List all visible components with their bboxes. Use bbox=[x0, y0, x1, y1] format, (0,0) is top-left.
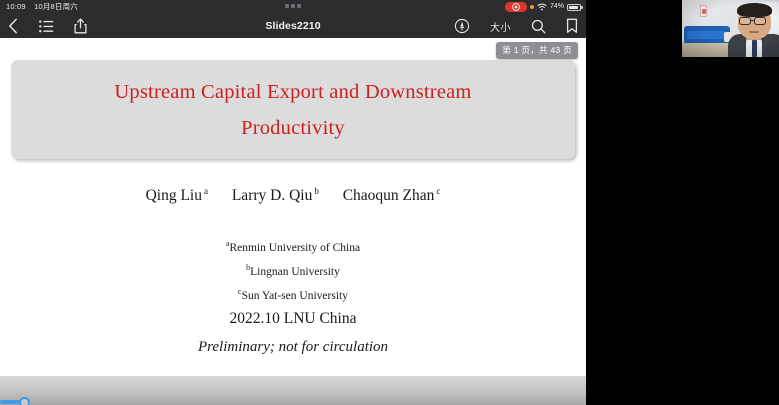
search-icon[interactable] bbox=[531, 19, 546, 34]
author-marker: c bbox=[436, 186, 440, 196]
screen-record-icon[interactable] bbox=[505, 2, 527, 12]
bookmark-icon[interactable] bbox=[566, 18, 578, 34]
document-toolbar: Slides2210 大小 bbox=[0, 14, 586, 38]
author-name: Larry D. Qiu bbox=[232, 187, 313, 204]
author-entry: Larry D. Qiub bbox=[232, 186, 319, 205]
multitask-dot bbox=[297, 4, 301, 8]
screen-root: 10:09 10月8日周六 bbox=[0, 0, 779, 405]
slide-canvas: Upstream Capital Export and Downstream P… bbox=[0, 38, 586, 376]
document-page[interactable]: 第 1 页，共 43 页 Upstream Capital Export and… bbox=[0, 38, 586, 376]
slide-venue: 2022.10 LNU China bbox=[0, 310, 586, 328]
multitask-dots[interactable] bbox=[285, 4, 301, 8]
author-marker: a bbox=[204, 186, 208, 196]
battery-percent: 74% bbox=[550, 0, 564, 14]
affiliation-name: Renmin University of China bbox=[229, 242, 360, 254]
microphone-in-use-dot bbox=[530, 5, 534, 9]
page-scrubber[interactable] bbox=[0, 376, 586, 405]
document-title: Slides2210 bbox=[265, 14, 320, 38]
status-date: 10月8日周六 bbox=[34, 2, 78, 11]
affiliation-entry: aRenmin University of China bbox=[0, 234, 586, 258]
scrubber-handle[interactable] bbox=[19, 397, 30, 405]
status-bar: 10:09 10月8日周六 bbox=[0, 0, 586, 14]
slide-title-line-1: Upstream Capital Export and Downstream bbox=[114, 74, 471, 110]
author-name: Qing Liu bbox=[146, 187, 202, 204]
participant-video-tile[interactable] bbox=[682, 0, 779, 57]
video-vignette bbox=[682, 0, 779, 57]
author-entry: Qing Liua bbox=[146, 186, 208, 205]
back-chevron-icon[interactable] bbox=[8, 18, 19, 34]
list-thumbnails-icon[interactable] bbox=[39, 20, 54, 33]
share-icon[interactable] bbox=[74, 18, 87, 34]
slide-note: Preliminary; not for circulation bbox=[0, 339, 586, 356]
status-bar-left: 10:09 10月8日周六 bbox=[6, 0, 78, 14]
affiliation-name: Sun Yat-sen University bbox=[242, 289, 348, 301]
ipad-app-window: 10:09 10月8日周六 bbox=[0, 0, 586, 405]
multitask-dot bbox=[285, 4, 289, 8]
author-entry: Chaoqun Zhanc bbox=[343, 186, 441, 205]
author-marker: b bbox=[314, 186, 319, 196]
slide-title-line-2: Productivity bbox=[241, 110, 345, 146]
status-clock: 10:09 bbox=[6, 2, 26, 11]
markup-pen-icon[interactable] bbox=[454, 18, 470, 34]
toolbar-left-group bbox=[8, 14, 87, 38]
wifi-icon bbox=[537, 3, 547, 11]
affiliation-list: aRenmin University of China bLingnan Uni… bbox=[0, 234, 586, 305]
text-size-button[interactable]: 大小 bbox=[490, 19, 511, 34]
affiliation-name: Lingnan University bbox=[250, 266, 340, 278]
toolbar-right-group: 大小 bbox=[454, 14, 578, 38]
battery-icon bbox=[567, 4, 581, 11]
multitask-dot bbox=[291, 4, 295, 8]
slide-title-box: Upstream Capital Export and Downstream P… bbox=[11, 60, 575, 159]
author-list: Qing Liua Larry D. Qiub Chaoqun Zhanc bbox=[0, 186, 586, 205]
status-bar-right: 74% bbox=[505, 0, 581, 14]
affiliation-entry: cSun Yat-sen University bbox=[0, 282, 586, 306]
affiliation-entry: bLingnan University bbox=[0, 258, 586, 282]
author-name: Chaoqun Zhan bbox=[343, 187, 435, 204]
